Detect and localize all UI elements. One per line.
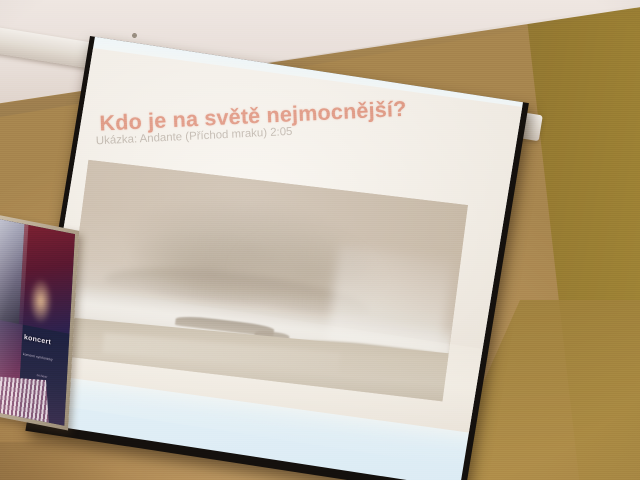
photo-haze-overlay xyxy=(63,160,468,402)
screen-canvas-surface: Kdo je na světě nejmocnější? Ukázka: And… xyxy=(32,37,523,480)
wall-base-shadow xyxy=(0,442,120,480)
poster-candle-glow xyxy=(28,276,54,327)
room-photo-scene: Kdo je na světě nejmocnější? Ukázka: And… xyxy=(0,0,640,480)
projection-screen[interactable]: Kdo je na světě nejmocnější? Ukázka: And… xyxy=(25,36,529,480)
slide-photo-storm-cloud xyxy=(63,160,468,402)
projected-slide: Kdo je na světě nejmocnější? Ukázka: And… xyxy=(40,47,523,435)
framed-poster[interactable]: koncert komorní symfonický orchestr xyxy=(0,214,79,431)
poster-glass: koncert komorní symfonický orchestr xyxy=(0,219,75,426)
